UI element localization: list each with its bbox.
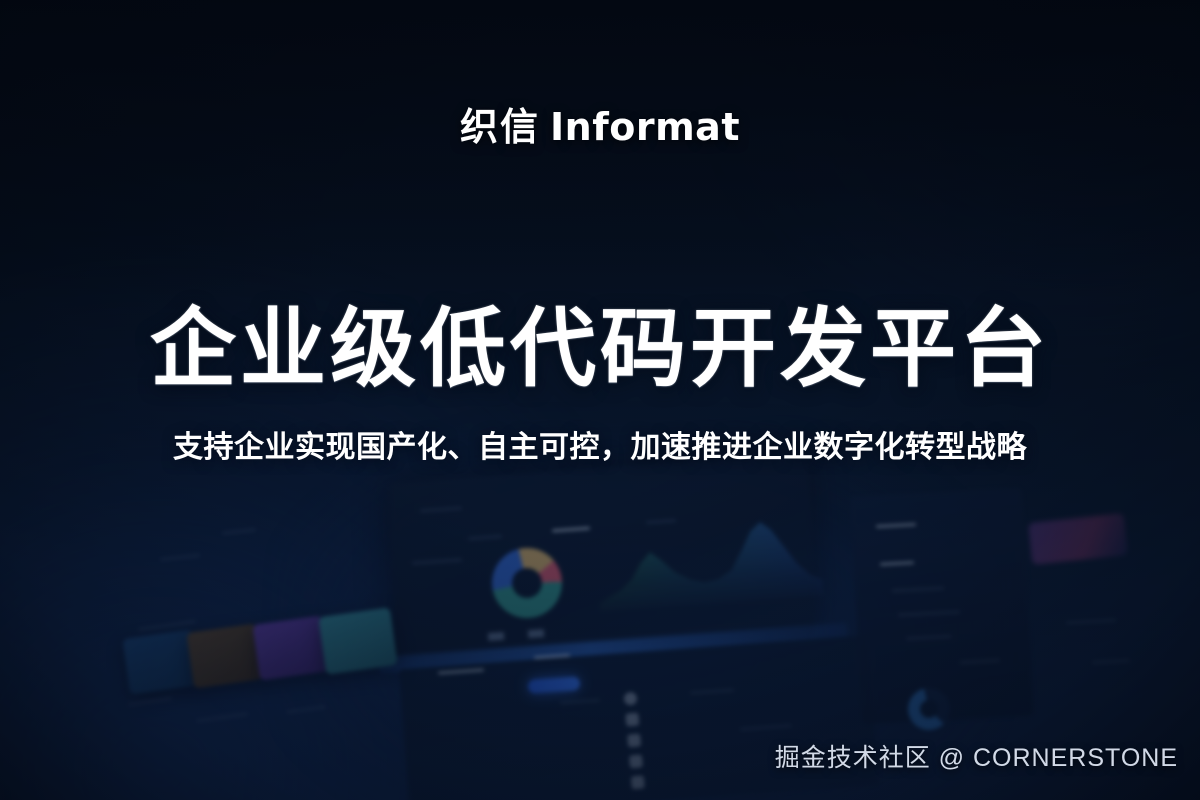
page-subtitle: 支持企业实现国产化、自主可控，加速推进企业数字化转型战略	[173, 422, 1027, 466]
watermark: 掘金技术社区 @ CORNERSTONE	[775, 738, 1178, 774]
hero-banner: 织信 Informat 企业级低代码开发平台 支持企业实现国产化、自主可控，加速…	[0, 0, 1200, 800]
brand-logo-en: Informat	[550, 105, 740, 149]
page-title: 企业级低代码开发平台	[150, 303, 1050, 396]
hero-content: 织信 Informat 企业级低代码开发平台 支持企业实现国产化、自主可控，加速…	[0, 0, 1200, 800]
brand-logo-cn: 织信	[460, 96, 540, 151]
brand-logo: 织信 Informat	[460, 96, 740, 151]
